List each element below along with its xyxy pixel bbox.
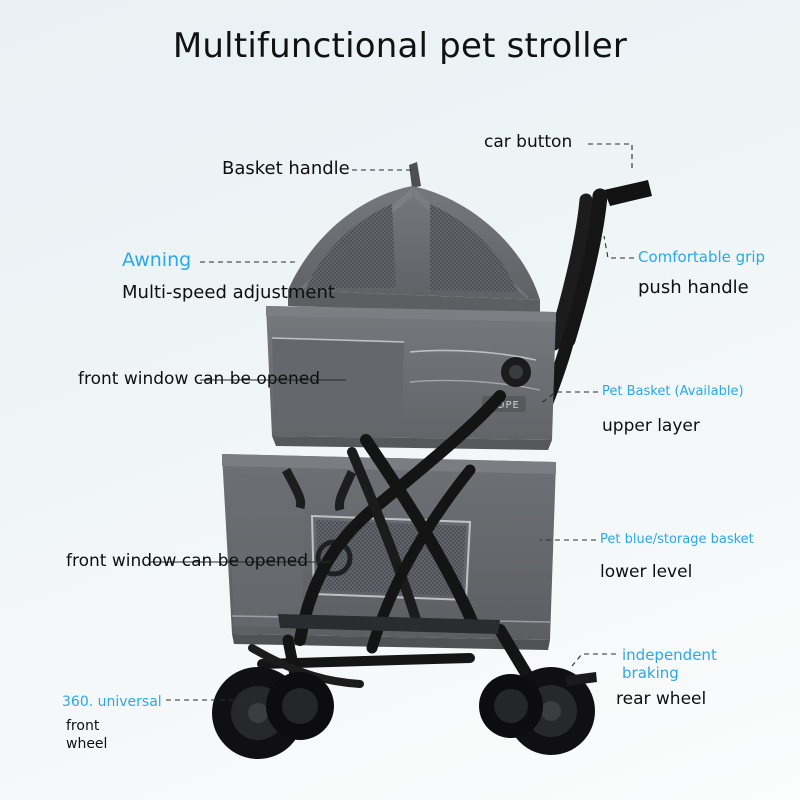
label-comfortable-grip: Comfortable grip (638, 249, 765, 266)
label-360-universal: 360. universal (62, 694, 162, 710)
label-multi-speed-adjustment: Multi-speed adjustment (122, 283, 335, 304)
label-upper-layer: upper layer (602, 417, 700, 437)
label-front-window-upper: front window can be opened (78, 370, 320, 390)
diagram-stage: HOPE (0, 0, 800, 800)
label-independent-braking-line1: independent (622, 647, 717, 664)
label-pet-blue-storage-basket: Pet blue/storage basket (600, 533, 754, 548)
label-front-window-lower: front window can be opened (66, 552, 308, 572)
label-front-wheel-line2: wheel (66, 736, 107, 752)
label-pet-basket-available: Pet Basket (Available) (602, 385, 744, 400)
label-car-button: car button (484, 133, 572, 153)
label-awning: Awning (122, 250, 191, 272)
label-basket-handle: Basket handle (222, 159, 350, 180)
label-rear-wheel: rear wheel (616, 690, 706, 710)
label-lower-level: lower level (600, 563, 692, 583)
label-independent-braking-line2: braking (622, 665, 679, 682)
page-title: Multifunctional pet stroller (0, 26, 800, 66)
label-front-wheel-line1: front (66, 718, 99, 734)
label-push-handle: push handle (638, 278, 749, 299)
callout-leader-lines (0, 0, 800, 800)
